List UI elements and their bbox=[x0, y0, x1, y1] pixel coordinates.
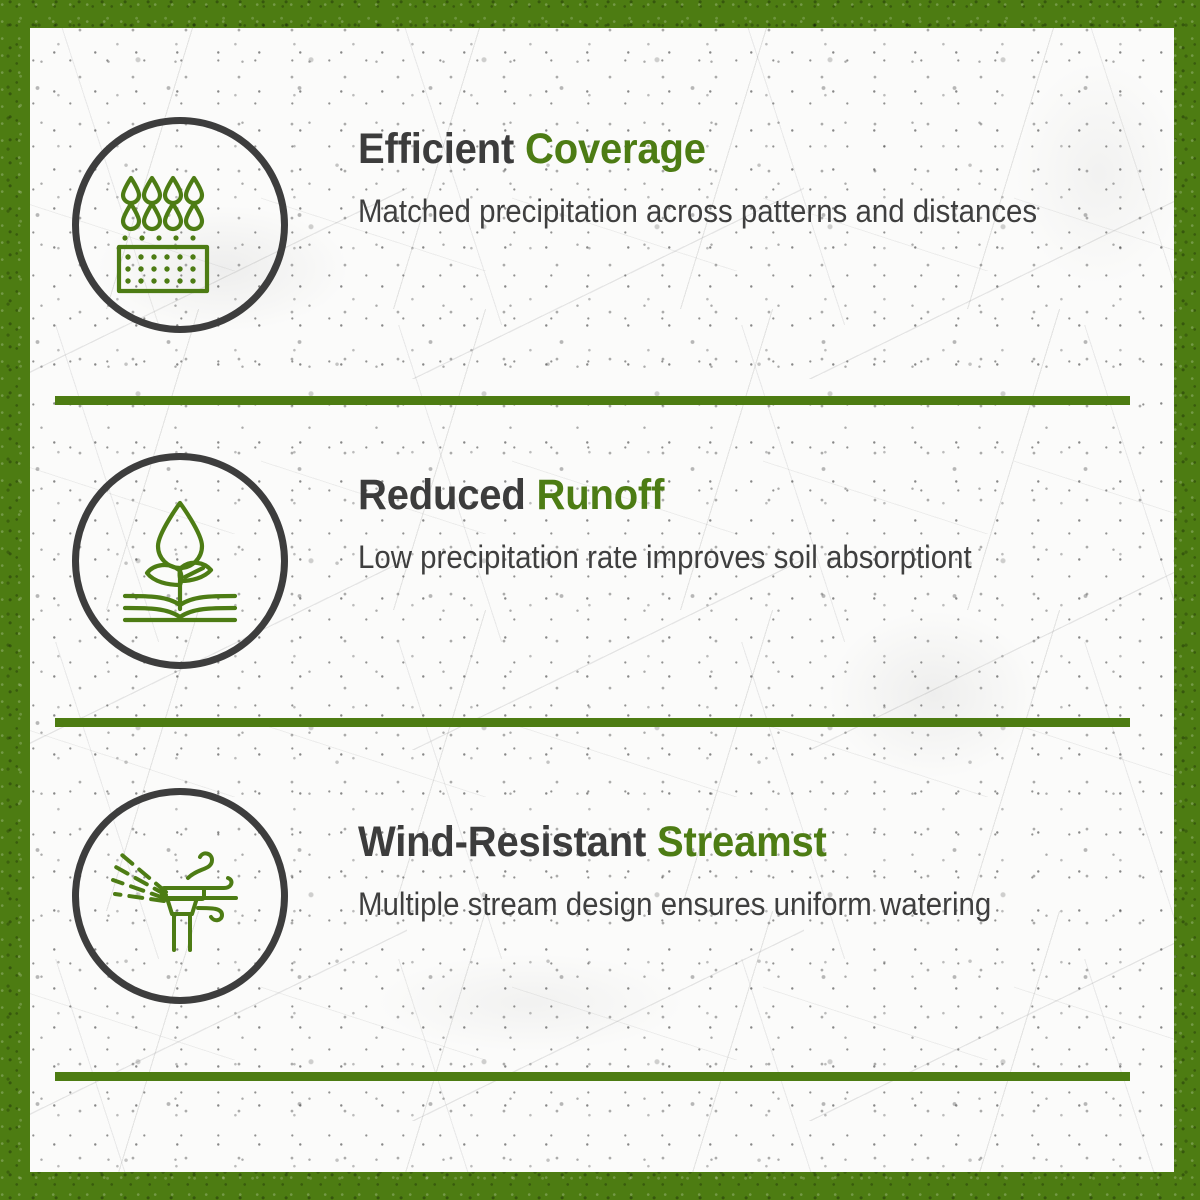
headline-accent-2: Runoff bbox=[537, 471, 665, 519]
feature-headline-1: Efficient Coverage bbox=[358, 127, 1045, 172]
divider-2 bbox=[55, 718, 1130, 727]
sprinkler-droplets-turf-icon bbox=[105, 150, 255, 300]
divider-3 bbox=[55, 1072, 1130, 1081]
feature-icon-circle-2 bbox=[72, 453, 288, 669]
infographic-canvas: Efficient Coverage Matched precipitation… bbox=[0, 0, 1200, 1200]
headline-primary-1: Efficient bbox=[358, 125, 525, 173]
headline-accent-1: Coverage bbox=[525, 125, 706, 173]
feature-icon-circle-1 bbox=[72, 117, 288, 333]
feature-subline-1: Matched precipitation across patterns an… bbox=[358, 194, 1037, 229]
feature-text-3: Wind-Resistant Streamst Multiple stream … bbox=[358, 820, 1046, 922]
headline-accent-3: Streamst bbox=[657, 818, 827, 866]
feature-subline-2: Low precipitation rate improves soil abs… bbox=[358, 540, 972, 575]
feature-headline-2: Reduced Runoff bbox=[358, 473, 978, 518]
divider-1 bbox=[55, 396, 1130, 405]
water-drop-sprout-soil-icon bbox=[105, 486, 255, 636]
feature-icon-circle-3 bbox=[72, 788, 288, 1004]
feature-text-1: Efficient Coverage Matched precipitation… bbox=[358, 127, 1096, 229]
sprinkler-wind-stream-icon bbox=[102, 818, 258, 974]
feature-headline-3: Wind-Resistant Streamst bbox=[358, 820, 998, 865]
feature-subline-3: Multiple stream design ensures uniform w… bbox=[358, 887, 991, 922]
feature-text-2: Reduced Runoff Low precipitation rate im… bbox=[358, 473, 1025, 575]
headline-primary-2: Reduced bbox=[358, 471, 537, 519]
headline-primary-3: Wind-Resistant bbox=[358, 818, 657, 866]
